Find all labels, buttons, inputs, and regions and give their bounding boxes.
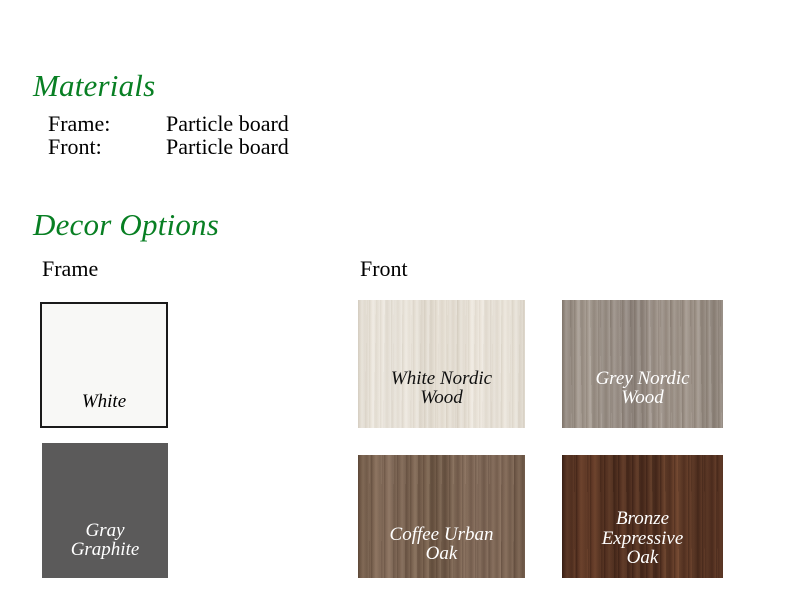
materials-row: Front: Particle board [48, 135, 289, 158]
swatch-white-nordic-wood[interactable]: White Nordic Wood [358, 300, 525, 428]
column-header-front: Front [360, 256, 408, 282]
swatch-bronze-expressive-oak[interactable]: Bronze Expressive Oak [562, 455, 723, 578]
column-header-frame: Frame [42, 256, 98, 282]
materials-row: Frame: Particle board [48, 112, 289, 135]
swatch-coffee-urban-oak[interactable]: Coffee Urban Oak [358, 455, 525, 578]
materials-row-key: Frame: [48, 112, 166, 135]
swatch-label: White [42, 392, 166, 426]
swatch-label: Gray Graphite [42, 521, 168, 578]
materials-row-value: Particle board [166, 112, 289, 135]
swatch-label: Bronze Expressive Oak [562, 509, 723, 578]
swatch-gray-graphite[interactable]: Gray Graphite [42, 443, 168, 578]
decor-options-heading: Decor Options [33, 207, 219, 243]
materials-row-value: Particle board [166, 135, 289, 158]
swatch-label: Grey Nordic Wood [562, 369, 723, 428]
materials-row-key: Front: [48, 135, 166, 158]
swatch-grey-nordic-wood[interactable]: Grey Nordic Wood [562, 300, 723, 428]
swatch-label: White Nordic Wood [358, 369, 525, 428]
materials-list: Frame: Particle board Front: Particle bo… [48, 112, 289, 159]
swatch-label: Coffee Urban Oak [358, 525, 525, 578]
decor-specification-page: Materials Frame: Particle board Front: P… [0, 0, 800, 600]
materials-heading: Materials [33, 68, 155, 104]
swatch-white[interactable]: White [40, 302, 168, 428]
